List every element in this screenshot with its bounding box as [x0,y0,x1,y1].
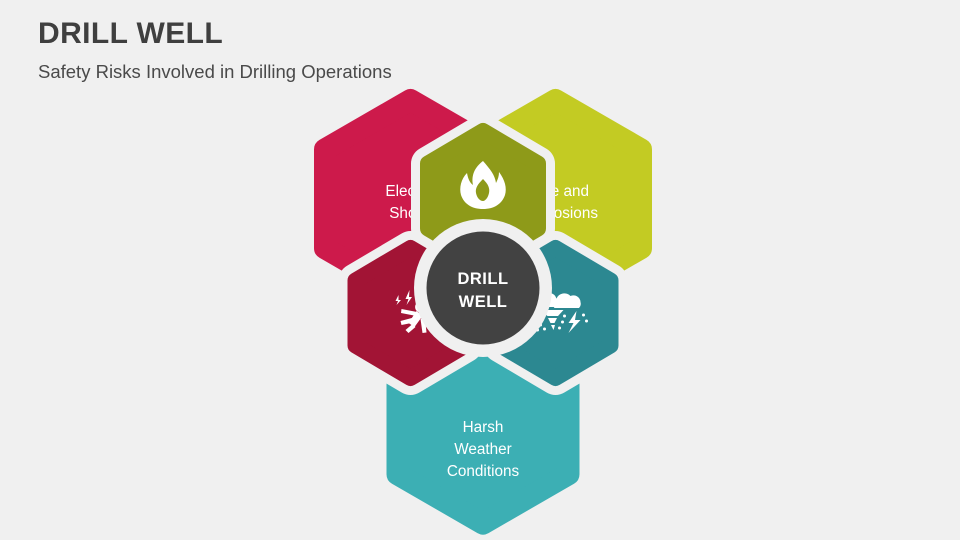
center-node-label-line2: WELL [459,293,508,311]
slide-header: DRILL WELL Safety Risks Involved in Dril… [38,14,738,85]
slide-canvas: DRILL WELL Safety Risks Involved in Dril… [0,0,960,540]
hexagon-harsh-weather-label-line3: Conditions [447,463,520,480]
page-title: DRILL WELL [38,14,738,54]
hexagon-harsh-weather-label-line1: Harsh [463,419,504,436]
hexagon-harsh-weather-label-line2: Weather [454,441,512,458]
center-node-drill-well[interactable]: DRILL WELL [414,219,552,357]
center-node-label-line1: DRILL [457,270,508,288]
center-node-circle[interactable] [427,232,540,345]
hexagon-infographic: Electric Shock Fire and Explosions Harsh… [250,88,710,538]
page-subtitle: Safety Risks Involved in Drilling Operat… [38,59,738,85]
